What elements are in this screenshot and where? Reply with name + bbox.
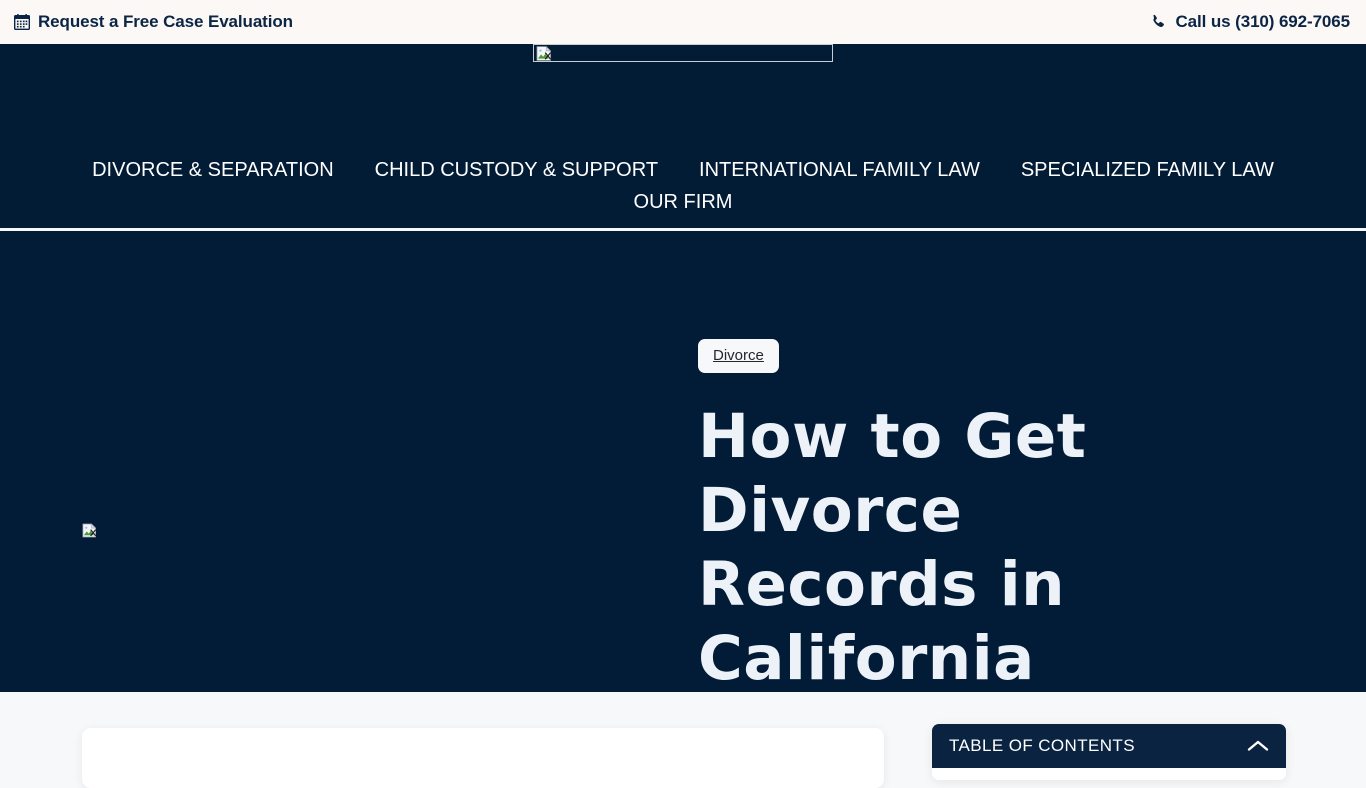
nav-item-child-custody-support[interactable]: CHILD CUSTODY & SUPPORT bbox=[375, 154, 658, 186]
table-of-contents-list bbox=[932, 768, 1286, 780]
nav-row-secondary: OUR FIRM bbox=[0, 186, 1366, 218]
article-body-card bbox=[82, 728, 884, 788]
site-header: DIVORCE & SEPARATION CHILD CUSTODY & SUP… bbox=[0, 44, 1366, 228]
site-logo[interactable] bbox=[533, 44, 833, 62]
calendar-icon bbox=[14, 14, 30, 31]
main-navigation: DIVORCE & SEPARATION CHILD CUSTODY & SUP… bbox=[0, 154, 1366, 218]
request-case-evaluation-label: Request a Free Case Evaluation bbox=[38, 12, 293, 32]
category-badge-divorce[interactable]: Divorce bbox=[698, 339, 779, 373]
table-of-contents-toggle[interactable]: TABLE OF CONTENTS bbox=[932, 724, 1286, 768]
hero-image bbox=[82, 523, 97, 543]
call-us-link[interactable]: Call us (310) 692-7065 bbox=[1150, 12, 1352, 32]
nav-item-specialized-family-law[interactable]: SPECIALIZED FAMILY LAW bbox=[1021, 154, 1274, 186]
table-of-contents-panel: TABLE OF CONTENTS bbox=[932, 724, 1286, 780]
broken-image-icon bbox=[536, 46, 552, 61]
nav-item-our-firm[interactable]: OUR FIRM bbox=[634, 186, 733, 218]
chevron-up-icon[interactable] bbox=[1247, 739, 1269, 753]
call-us-label: Call us (310) 692-7065 bbox=[1175, 12, 1350, 32]
table-of-contents-title: TABLE OF CONTENTS bbox=[949, 736, 1135, 756]
nav-item-international-family-law[interactable]: INTERNATIONAL FAMILY LAW bbox=[699, 154, 980, 186]
phone-icon bbox=[1150, 14, 1167, 31]
broken-image-icon bbox=[82, 525, 97, 542]
hero-content: Divorce How to Get Divorce Records in Ca… bbox=[698, 339, 1258, 748]
request-case-evaluation-link[interactable]: Request a Free Case Evaluation bbox=[14, 12, 293, 32]
nav-item-divorce-separation[interactable]: DIVORCE & SEPARATION bbox=[92, 154, 334, 186]
top-utility-bar: Request a Free Case Evaluation Call us (… bbox=[0, 0, 1366, 44]
content-section: TABLE OF CONTENTS bbox=[0, 692, 1366, 768]
hero-section: Divorce How to Get Divorce Records in Ca… bbox=[0, 231, 1366, 692]
page-title: How to Get Divorce Records in California bbox=[698, 400, 1258, 696]
